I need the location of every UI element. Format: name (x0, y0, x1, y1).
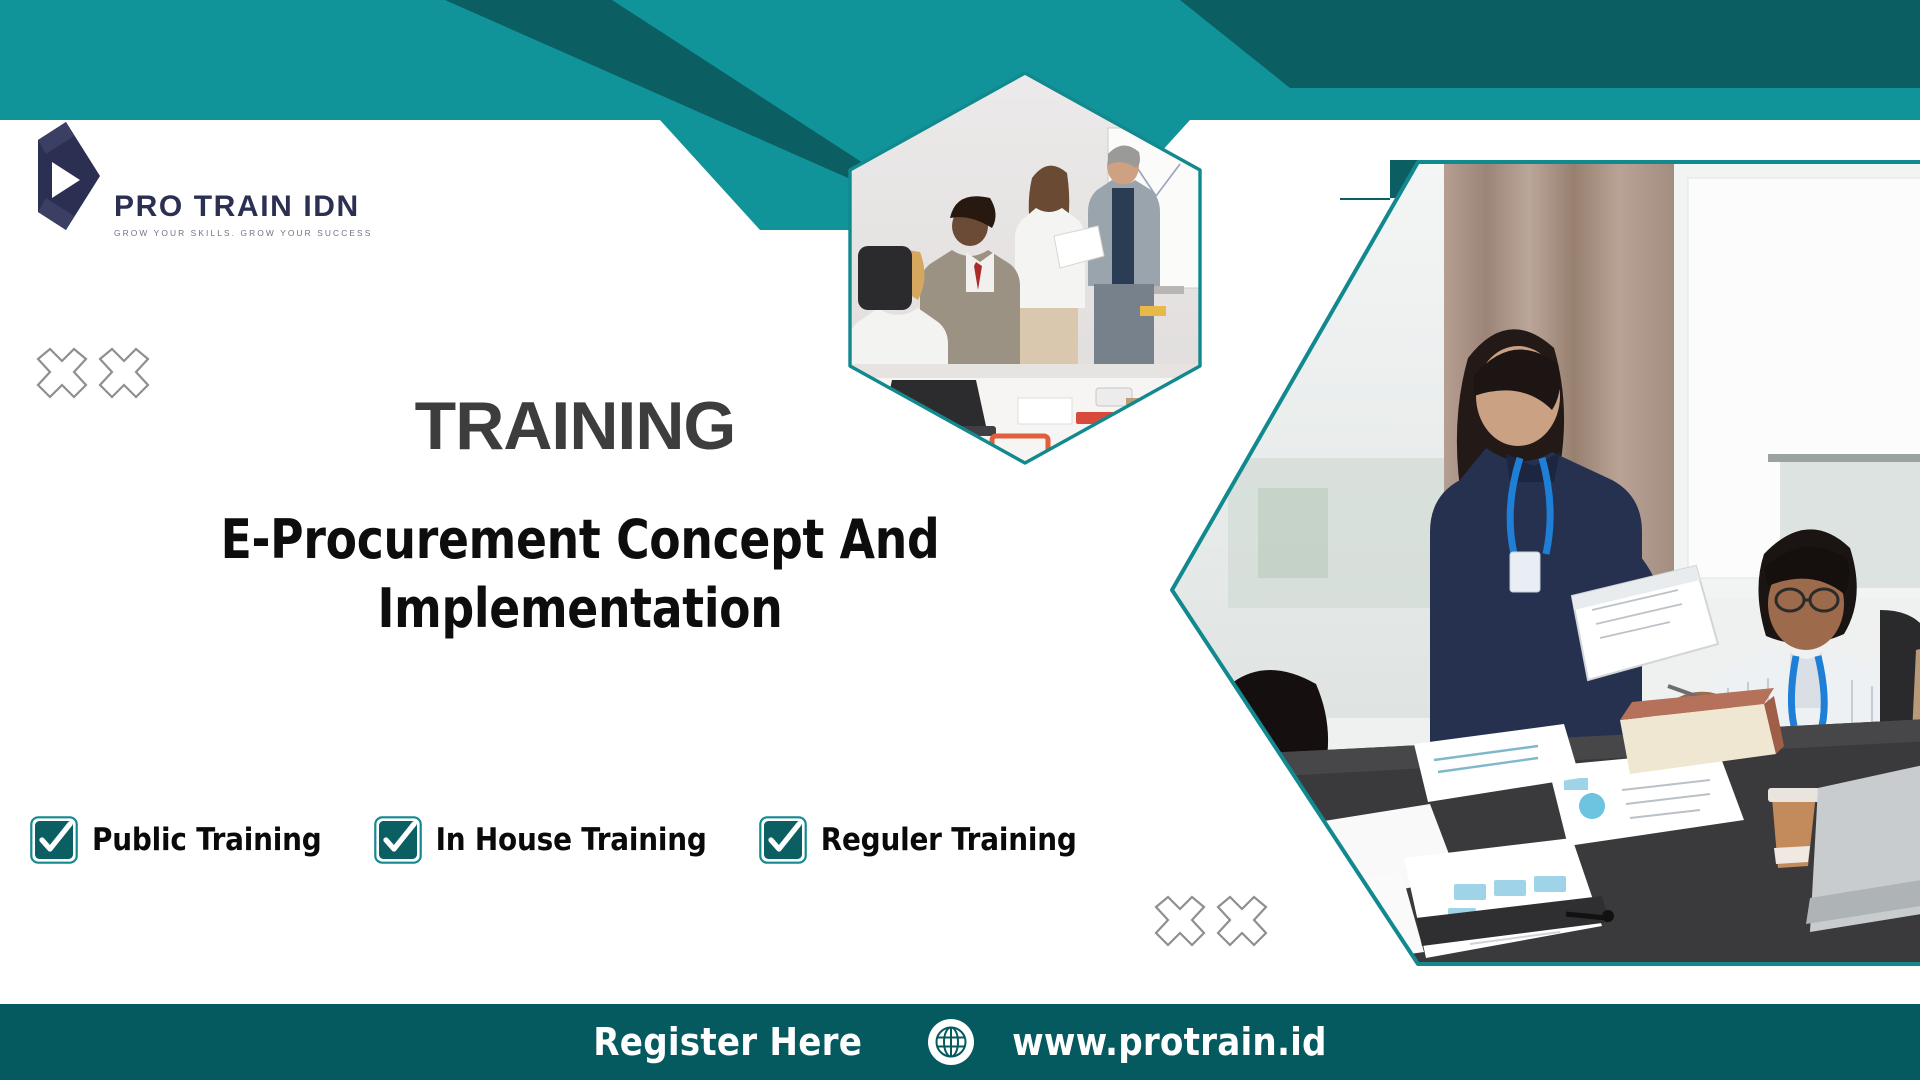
protrain-arrow-logo-icon (30, 118, 104, 244)
footer-bar: Register Here www.protrain.id (0, 1004, 1920, 1080)
checkbox-checked-icon[interactable] (374, 816, 422, 864)
training-type-label: Public Training (92, 822, 322, 858)
headline-line-2: Implementation (377, 577, 782, 640)
training-type-label: Reguler Training (821, 822, 1077, 858)
checkbox-checked-icon[interactable] (759, 816, 807, 864)
brand-tagline: GROW YOUR SKILLS. GROW YOUR SUCCESS (114, 228, 372, 238)
page-title: E-Procurement Concept And Implementation (148, 505, 1013, 643)
training-type-item[interactable]: In House Training (374, 816, 707, 864)
training-type-item[interactable]: Public Training (30, 816, 322, 864)
brand-logo[interactable]: PRO TRAIN IDN GROW YOUR SKILLS. GROW YOU… (30, 118, 390, 244)
globe-icon (928, 1019, 974, 1065)
hex-photo-top (840, 68, 1210, 468)
website-url[interactable]: www.protrain.id (1012, 1020, 1327, 1064)
checkbox-checked-icon[interactable] (30, 816, 78, 864)
training-type-list: Public Training In House Training Re (30, 816, 1129, 864)
brand-name: PRO TRAIN IDN (114, 190, 360, 223)
headline-line-1: E-Procurement Concept And (221, 508, 940, 571)
training-type-label: In House Training (436, 822, 707, 858)
register-here-label[interactable]: Register Here (593, 1020, 862, 1064)
poster-canvas: PRO TRAIN IDN GROW YOUR SKILLS. GROW YOU… (0, 0, 1920, 1080)
hex-photo-main (1168, 158, 1920, 968)
training-type-item[interactable]: Reguler Training (759, 816, 1077, 864)
